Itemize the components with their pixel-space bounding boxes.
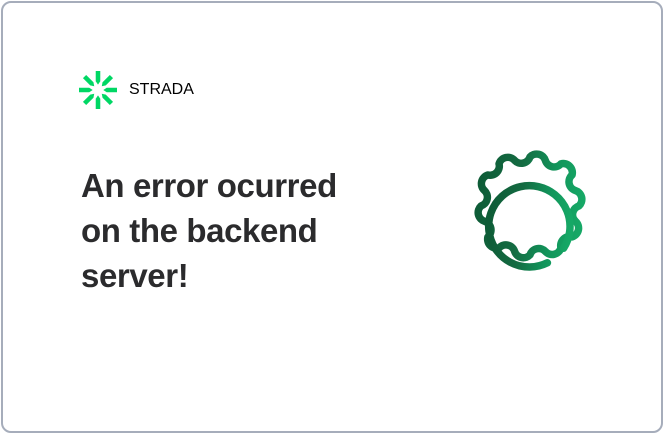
brand-lockup: STRADA (79, 71, 194, 109)
brand-wordmark: STRADA (129, 81, 194, 99)
error-card: STRADA An error ocurred on the backend s… (1, 1, 663, 433)
strada-asterisk-icon (79, 71, 117, 109)
error-message: An error ocurred on the backend server! (81, 163, 381, 298)
gear-icon (447, 142, 613, 308)
